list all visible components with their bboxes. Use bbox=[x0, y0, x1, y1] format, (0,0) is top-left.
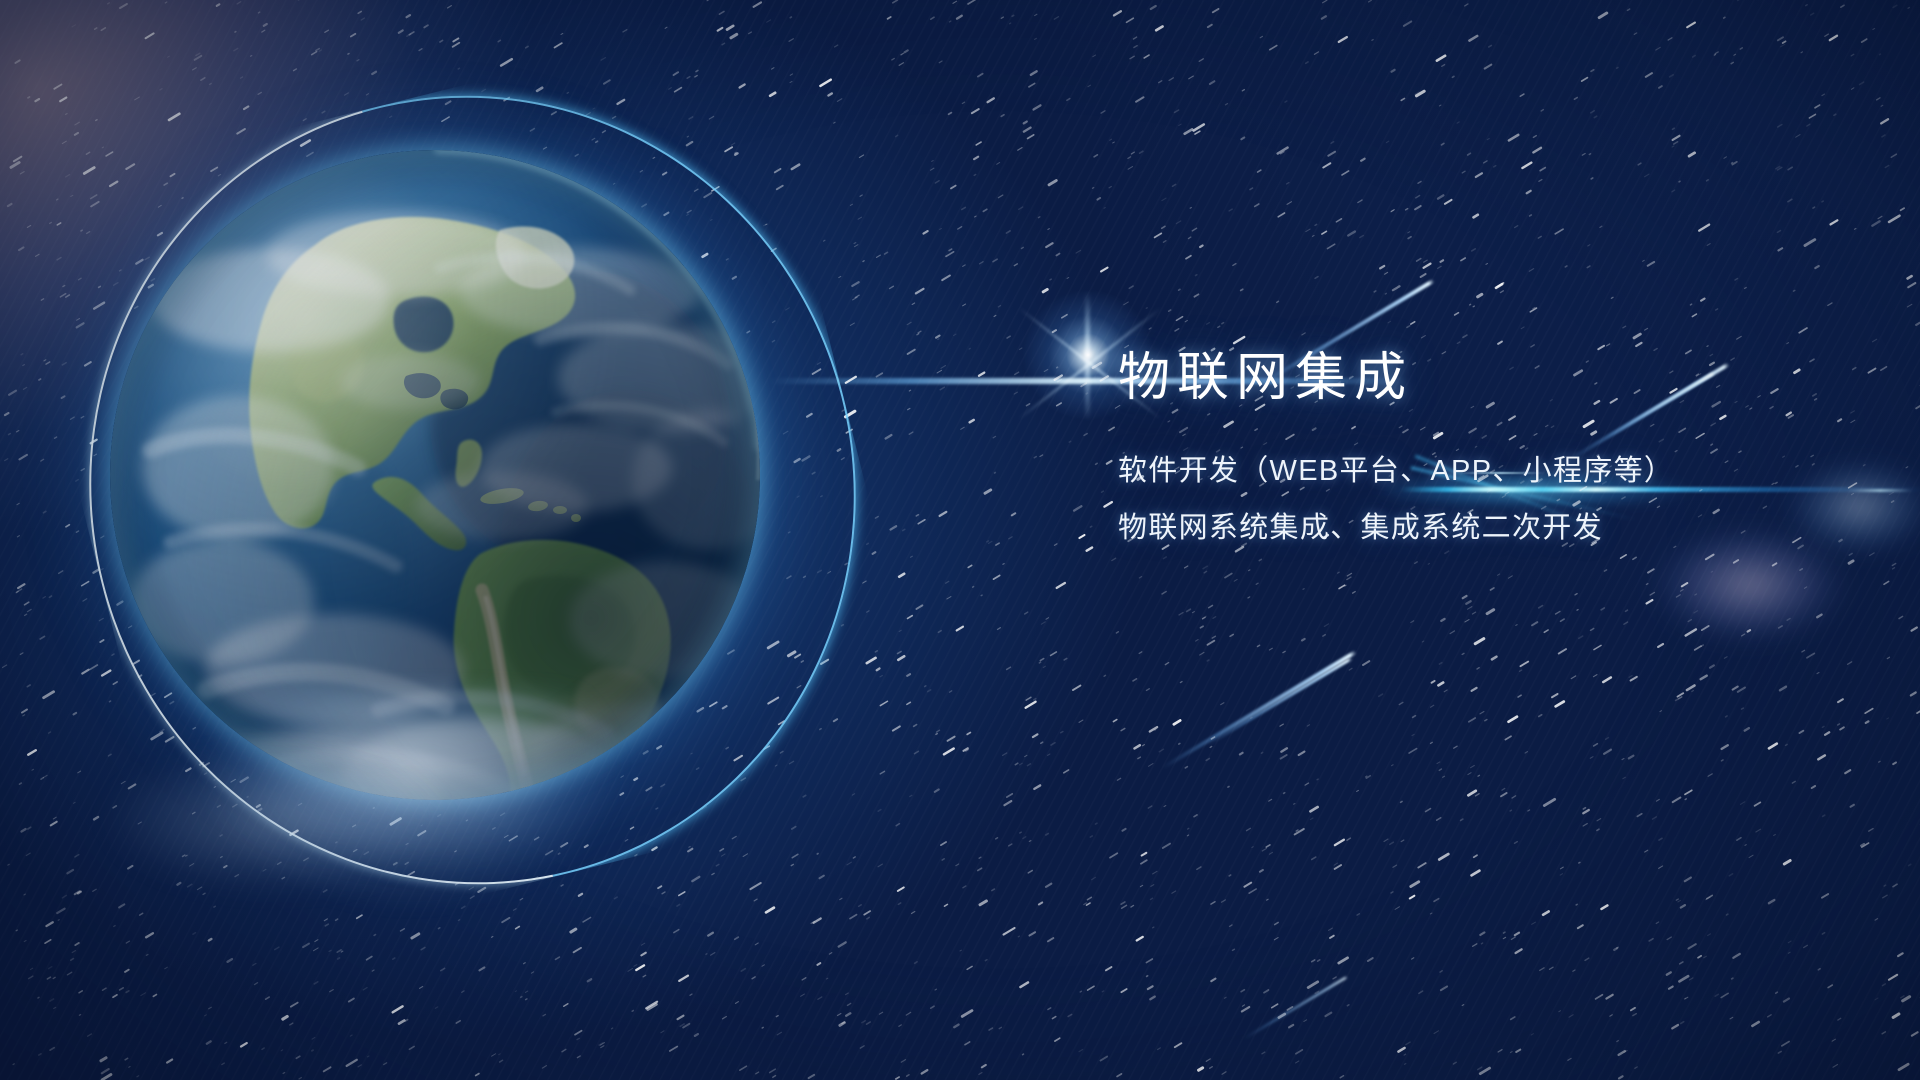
globe-reflection-2 bbox=[60, 720, 490, 920]
hero-banner: 物联网集成 软件开发（WEB平台、APP、小程序等） 物联网系统集成、集成系统二… bbox=[0, 0, 1920, 1080]
globe-rim-light bbox=[110, 150, 760, 800]
banner-subtitle-2: 物联网系统集成、集成系统二次开发 bbox=[1118, 500, 1878, 557]
lens-flare-vertical bbox=[1085, 292, 1090, 420]
banner-headline: 物联网集成 bbox=[1118, 348, 1878, 409]
banner-subtitle-list: 软件开发（WEB平台、APP、小程序等） 物联网系统集成、集成系统二次开发 bbox=[1118, 443, 1878, 556]
orbit-ring bbox=[6, 14, 939, 966]
banner-subtitle-1: 软件开发（WEB平台、APP、小程序等） bbox=[1118, 443, 1878, 500]
orbit-ring-cyan bbox=[6, 14, 939, 966]
globe-atmosphere-glow bbox=[64, 104, 806, 846]
globe-sphere bbox=[110, 150, 760, 800]
globe-reflection bbox=[150, 690, 670, 1020]
banner-text-block: 物联网集成 软件开发（WEB平台、APP、小程序等） 物联网系统集成、集成系统二… bbox=[1118, 348, 1878, 556]
comet-streak-6 bbox=[1244, 975, 1348, 1039]
globe-shading bbox=[110, 150, 760, 800]
globe-surface bbox=[110, 150, 760, 800]
earth-globe bbox=[110, 150, 760, 800]
comet-streak-2 bbox=[1207, 657, 1353, 746]
comet-streak-1 bbox=[1161, 650, 1357, 770]
